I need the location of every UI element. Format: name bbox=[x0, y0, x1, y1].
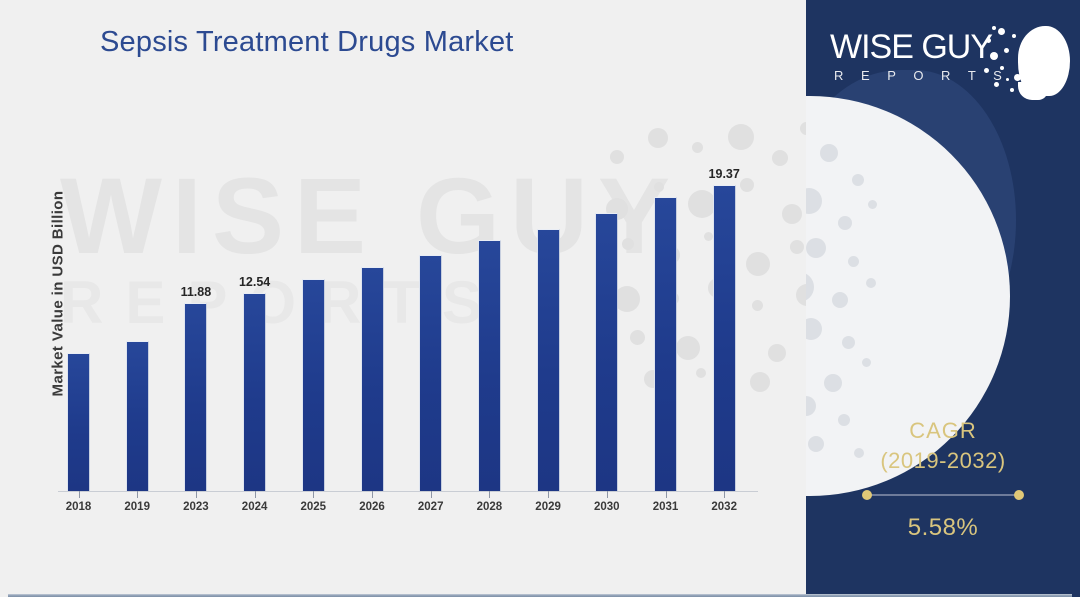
bottom-margin bbox=[0, 597, 1080, 610]
bar-2027 bbox=[419, 255, 442, 491]
x-axis-tick-label: 2019 bbox=[112, 501, 162, 513]
bar-value-label: 12.54 bbox=[225, 275, 285, 289]
bar-chart: Market Value in USD Billion 201820192023… bbox=[0, 0, 806, 597]
x-axis-tick-label: 2030 bbox=[582, 501, 632, 513]
head-profile-dots-icon bbox=[984, 22, 1070, 100]
logo-dot bbox=[1018, 56, 1024, 62]
cagr-divider-line bbox=[867, 494, 1019, 496]
x-axis-tick-label: 2024 bbox=[230, 501, 280, 513]
bar-value-label: 19.37 bbox=[694, 167, 754, 181]
x-tick-2025 bbox=[313, 491, 314, 498]
logo-dot bbox=[998, 28, 1005, 35]
logo-dot bbox=[1026, 70, 1030, 74]
y-axis-label: Market Value in USD Billion bbox=[50, 144, 67, 444]
cagr-divider bbox=[862, 490, 1024, 500]
x-axis-tick-label: 2018 bbox=[54, 501, 104, 513]
x-axis-tick-label: 2028 bbox=[464, 501, 514, 513]
logo-dot bbox=[984, 68, 989, 73]
bar-2031 bbox=[654, 197, 677, 491]
logo-dot bbox=[986, 38, 991, 43]
logo-chin-shape bbox=[1018, 82, 1048, 100]
logo-dot bbox=[1006, 78, 1009, 81]
x-axis-tick-label: 2025 bbox=[288, 501, 338, 513]
logo-dot bbox=[992, 26, 996, 30]
bar-2032 bbox=[713, 185, 736, 491]
cagr-range: (2019-2032) bbox=[806, 448, 1080, 474]
logo-dot bbox=[994, 82, 999, 87]
chart-panel: WISE GUY REPORTS Sepsis Treatment Drugs … bbox=[0, 0, 806, 597]
logo-subtitle: R E P O R T S bbox=[834, 68, 1009, 83]
bar-2024 bbox=[243, 293, 266, 491]
x-tick-2023 bbox=[196, 491, 197, 498]
logo-dot bbox=[1010, 88, 1014, 92]
cagr-divider-dot-left bbox=[862, 490, 872, 500]
cagr-label: CAGR bbox=[806, 418, 1080, 444]
cagr-block: CAGR (2019-2032) 5.58% bbox=[806, 418, 1080, 542]
logo-dot bbox=[1012, 34, 1016, 38]
logo-dot bbox=[990, 52, 998, 60]
x-tick-2030 bbox=[607, 491, 608, 498]
bar-2028 bbox=[478, 240, 501, 491]
logo-dot bbox=[1024, 42, 1027, 45]
x-tick-2031 bbox=[666, 491, 667, 498]
x-axis-tick-label: 2026 bbox=[347, 501, 397, 513]
x-tick-2032 bbox=[724, 491, 725, 498]
logo-dot bbox=[1000, 66, 1004, 70]
logo-dot bbox=[1004, 48, 1009, 53]
x-axis-line bbox=[58, 491, 758, 492]
x-tick-2026 bbox=[372, 491, 373, 498]
logo-dot bbox=[1014, 74, 1021, 81]
bar-2019 bbox=[126, 341, 149, 491]
cagr-value: 5.58% bbox=[806, 514, 1080, 542]
x-tick-2029 bbox=[548, 491, 549, 498]
brand-panel: WISE GUY R E P O R T S CAGR (2019-2032) … bbox=[806, 0, 1080, 597]
x-axis-tick-label: 2023 bbox=[171, 501, 221, 513]
x-axis-tick-label: 2029 bbox=[523, 501, 573, 513]
x-axis-tick-label: 2027 bbox=[406, 501, 456, 513]
x-tick-2027 bbox=[431, 491, 432, 498]
x-axis-tick-label: 2031 bbox=[641, 501, 691, 513]
bar-value-label: 11.88 bbox=[166, 285, 226, 299]
bar-2018 bbox=[67, 353, 90, 491]
x-tick-2024 bbox=[255, 491, 256, 498]
chart-infographic: WISE GUY REPORTS Sepsis Treatment Drugs … bbox=[0, 0, 1080, 610]
bar-2026 bbox=[361, 267, 384, 491]
cagr-divider-dot-right bbox=[1014, 490, 1024, 500]
bar-2030 bbox=[595, 213, 618, 491]
bar-2025 bbox=[302, 279, 325, 491]
x-tick-2018 bbox=[79, 491, 80, 498]
bar-2029 bbox=[537, 229, 560, 491]
x-tick-2019 bbox=[137, 491, 138, 498]
x-axis-tick-label: 2032 bbox=[699, 501, 749, 513]
wiseguy-logo[interactable]: WISE GUY R E P O R T S bbox=[824, 18, 1074, 104]
bar-2023 bbox=[184, 303, 207, 491]
logo-wordmark: WISE GUY bbox=[830, 28, 992, 67]
x-tick-2028 bbox=[489, 491, 490, 498]
